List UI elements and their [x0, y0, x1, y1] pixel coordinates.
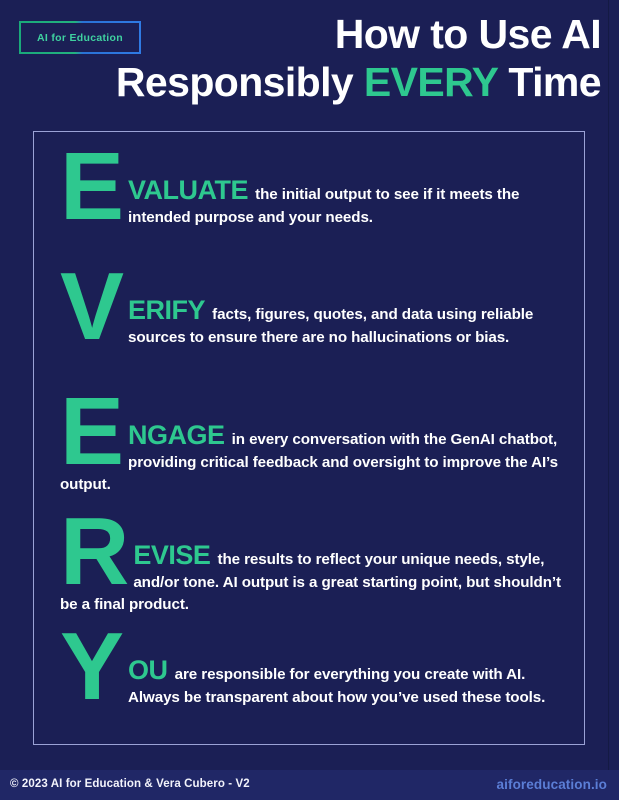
list-item-text-engage: NGAGE in every conversation with the Gen…	[60, 394, 568, 497]
list-item-text-you: OU are responsible for everything you cr…	[60, 629, 568, 709]
list-item-revise: R EVISE the results to reflect your uniq…	[60, 514, 568, 617]
acronym-letter-y: Y	[60, 625, 122, 709]
page-title: How to Use AI Responsibly EVERY Time	[61, 10, 601, 106]
content-box: E VALUATE the initial output to see if i…	[33, 131, 585, 745]
acronym-letter-v: V	[60, 265, 122, 349]
footer-website-url[interactable]: aiforeducation.io	[497, 777, 607, 792]
acronym-word-revise: EVISE	[133, 540, 213, 570]
acronym-body-you: are responsible for everything you creat…	[128, 666, 545, 706]
page-title-line-2-post: Time	[498, 59, 601, 105]
footer: © 2023 AI for Education & Vera Cubero - …	[0, 770, 619, 800]
acronym-letter-e2: E	[60, 390, 122, 474]
page-title-line-2-pre: Responsibly	[116, 59, 364, 105]
page-title-line-2: Responsibly EVERY Time	[61, 58, 601, 106]
acronym-word-you: OU	[128, 655, 171, 685]
list-item-you: Y OU are responsible for everything you …	[60, 629, 568, 709]
acronym-letter-r: R	[60, 510, 127, 594]
header: AI for Education How to Use AI Responsib…	[0, 0, 619, 125]
every-acronym-list: E VALUATE the initial output to see if i…	[34, 132, 586, 746]
list-item-verify: V ERIFY facts, figures, quotes, and data…	[60, 269, 568, 349]
acronym-word-evaluate: VALUATE	[128, 175, 251, 205]
list-item-text-verify: ERIFY facts, figures, quotes, and data u…	[60, 269, 568, 349]
list-item-text-evaluate: VALUATE the initial output to see if it …	[60, 149, 568, 229]
acronym-letter-e1: E	[60, 145, 122, 229]
page-title-accent: EVERY	[364, 59, 498, 105]
acronym-word-engage: NGAGE	[128, 420, 228, 450]
acronym-word-verify: ERIFY	[128, 295, 208, 325]
list-item-engage: E NGAGE in every conversation with the G…	[60, 394, 568, 497]
list-item-evaluate: E VALUATE the initial output to see if i…	[60, 149, 568, 229]
list-item-text-revise: EVISE the results to reflect your unique…	[60, 514, 568, 617]
infographic-page: AI for Education How to Use AI Responsib…	[0, 0, 619, 800]
page-title-line-1: How to Use AI	[61, 10, 601, 58]
footer-copyright: © 2023 AI for Education & Vera Cubero - …	[10, 778, 250, 790]
